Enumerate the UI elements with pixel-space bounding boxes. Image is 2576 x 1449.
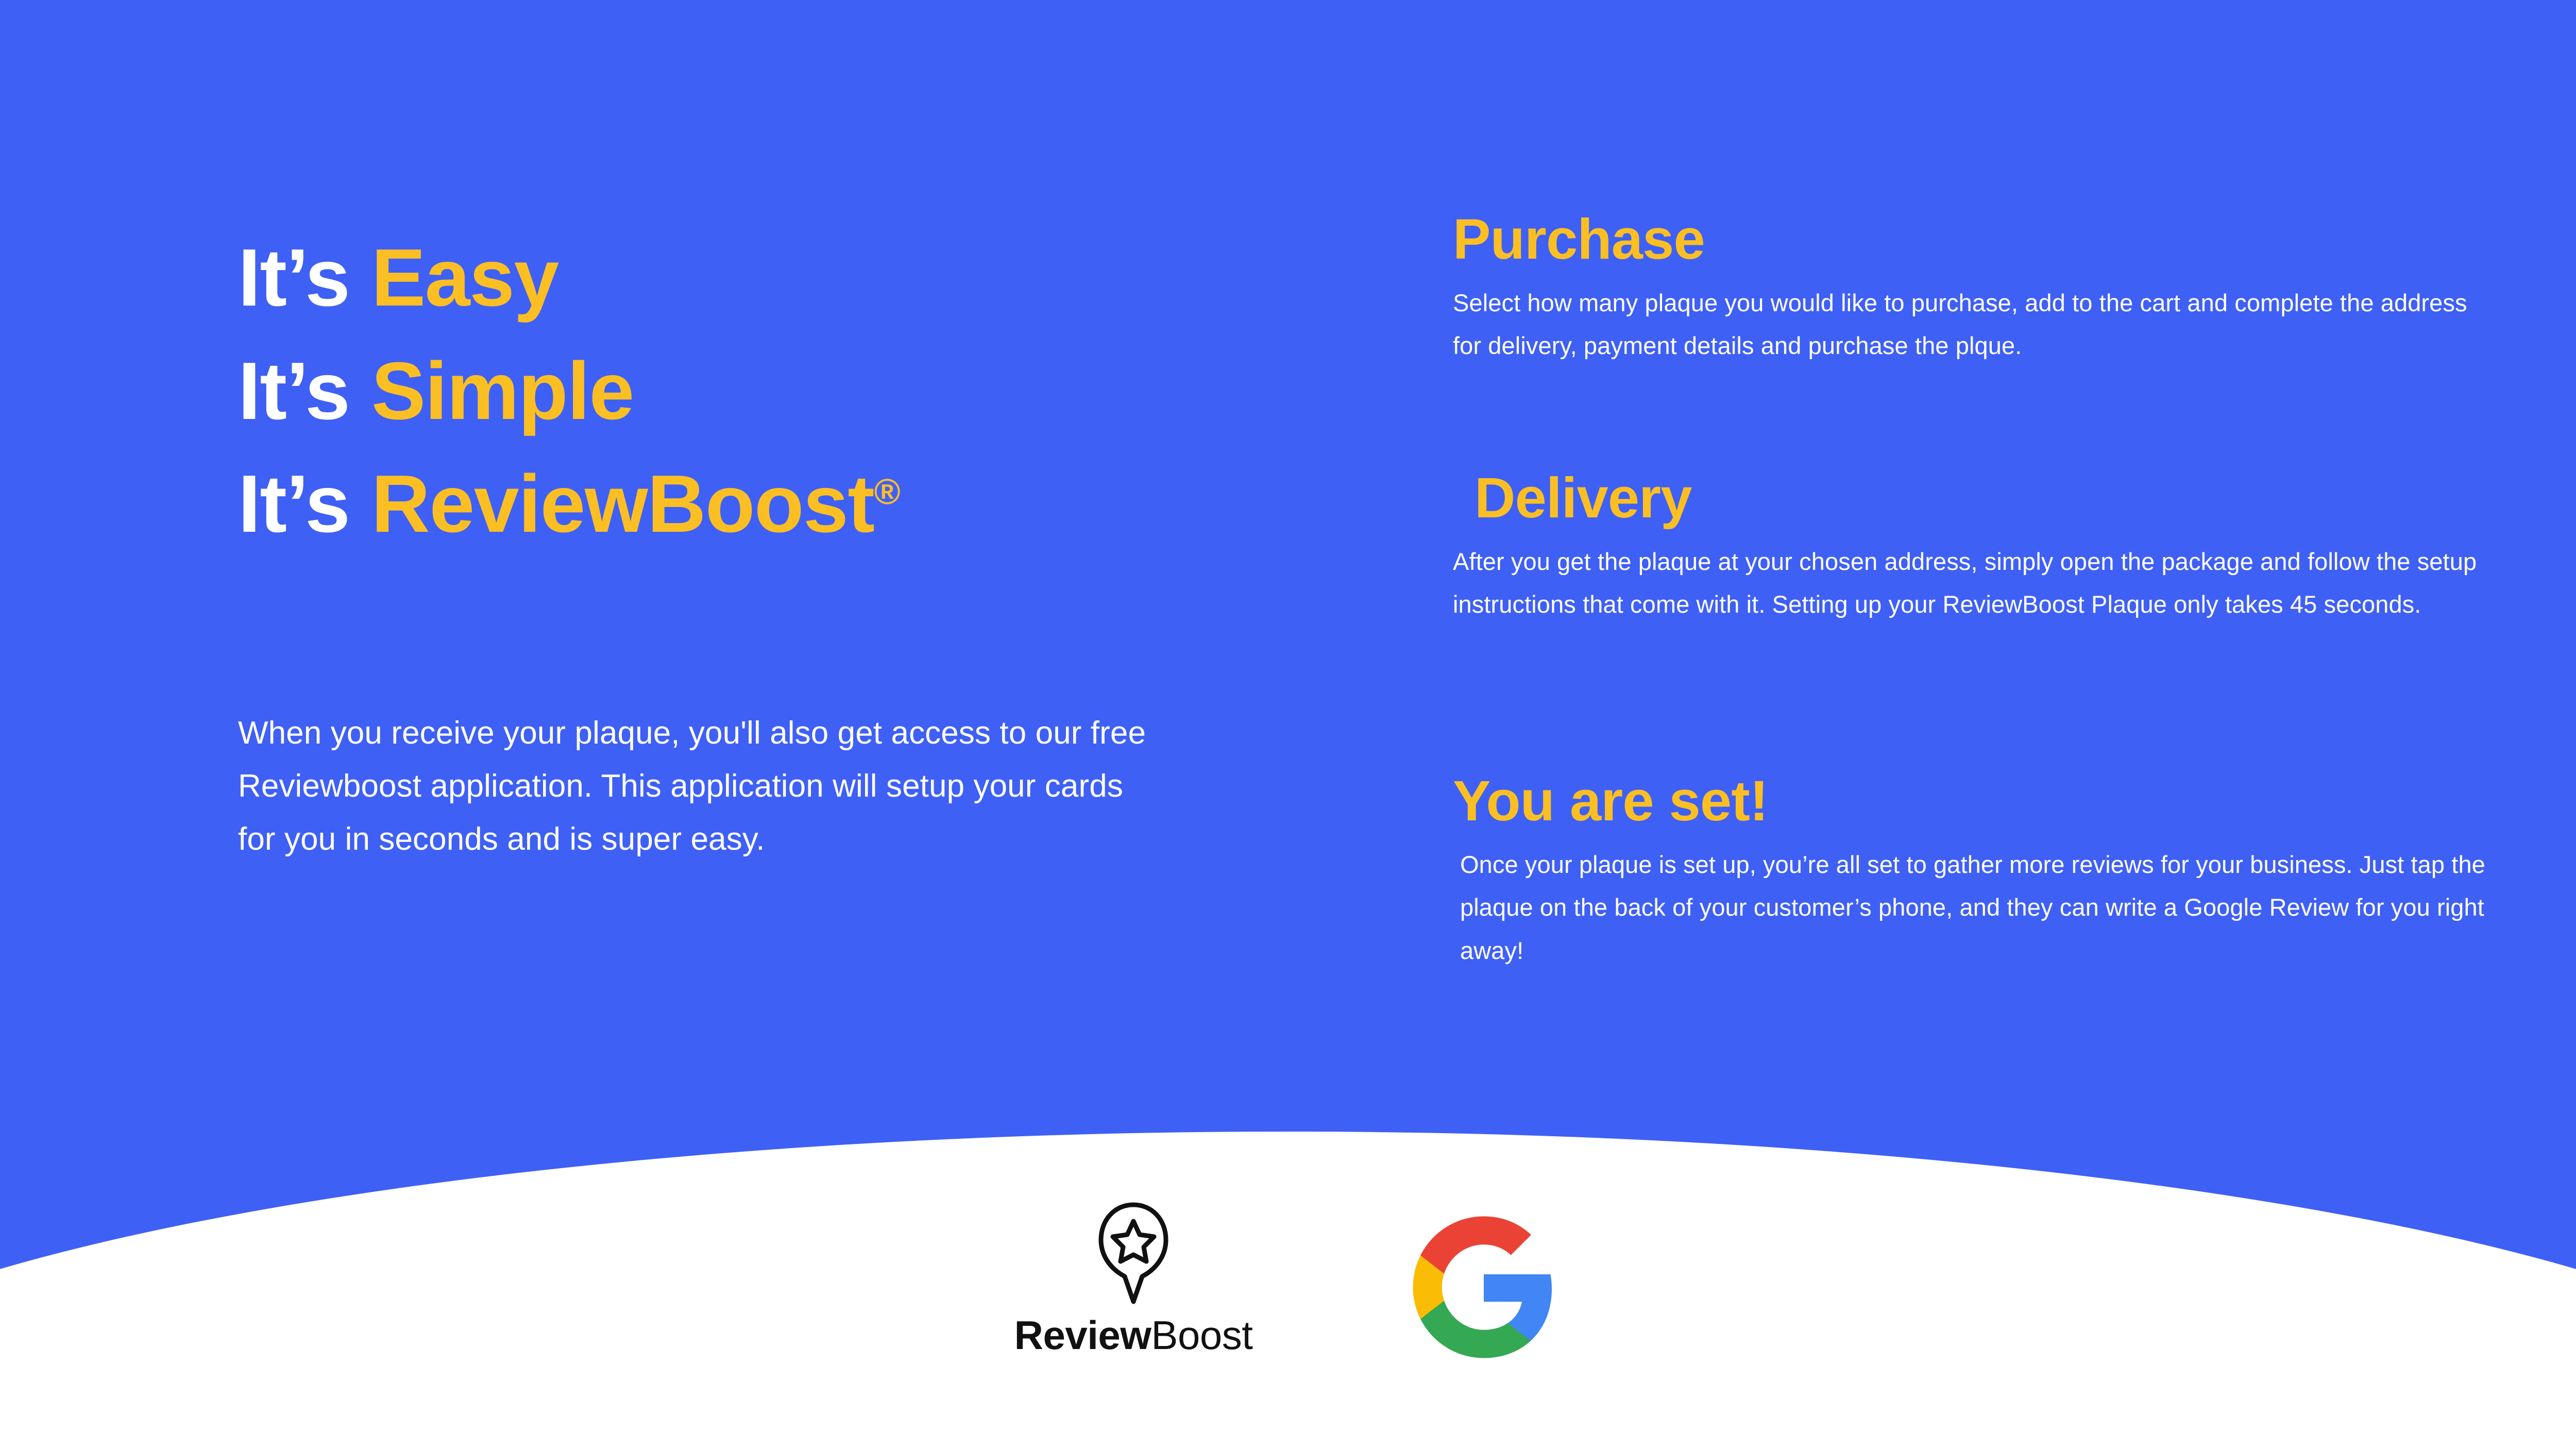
slide-canvas: It’s Easy It’s Simple It’s ReviewBoost® … xyxy=(0,0,2576,1449)
reviewboost-logo: ReviewBoost xyxy=(994,1201,1273,1355)
reviewboost-wordmark-bold: Review xyxy=(1014,1312,1151,1358)
headline-prefix-2: It’s xyxy=(238,346,371,436)
reviewboost-wordmark: ReviewBoost xyxy=(994,1315,1273,1355)
google-g-icon xyxy=(1406,1210,1561,1364)
headline-line-3: It’s ReviewBoost® xyxy=(238,448,1361,561)
step-you-are-set-text: Once your plaque is set up, you’re all s… xyxy=(1460,843,2494,972)
headline-accent-3: ReviewBoost xyxy=(371,459,874,549)
headline-line-1: It’s Easy xyxy=(238,222,1361,335)
slide-content: It’s Easy It’s Simple It’s ReviewBoost® … xyxy=(0,0,2576,1449)
step-purchase-text: Select how many plaque you would like to… xyxy=(1453,281,2494,367)
location-pin-star-icon xyxy=(1095,1201,1172,1309)
step-purchase: Purchase Select how many plaque you woul… xyxy=(1453,206,2494,367)
headline-accent-2: Simple xyxy=(371,346,634,436)
step-purchase-title: Purchase xyxy=(1453,206,2494,273)
step-delivery-text: After you get the plaque at your chosen … xyxy=(1453,540,2494,626)
step-delivery: Delivery After you get the plaque at you… xyxy=(1453,465,2494,626)
step-you-are-set: You are set! Once your plaque is set up,… xyxy=(1453,768,2494,972)
headline-prefix-3: It’s xyxy=(238,459,371,549)
reviewboost-wordmark-regular: Boost xyxy=(1151,1312,1252,1358)
left-body-paragraph: When you receive your plaque, you'll als… xyxy=(238,707,1155,866)
headline-accent-1: Easy xyxy=(371,232,558,323)
headline-prefix-1: It’s xyxy=(238,232,371,323)
step-you-are-set-title: You are set! xyxy=(1453,768,2494,835)
footer-logo-row: ReviewBoost xyxy=(0,1201,2576,1417)
headline-line-2: It’s Simple xyxy=(238,335,1361,448)
step-delivery-title: Delivery xyxy=(1475,465,2494,532)
registered-trademark-symbol: ® xyxy=(874,471,900,512)
left-column: It’s Easy It’s Simple It’s ReviewBoost® xyxy=(238,222,1361,561)
page-title: It’s Easy It’s Simple It’s ReviewBoost® xyxy=(238,222,1361,561)
